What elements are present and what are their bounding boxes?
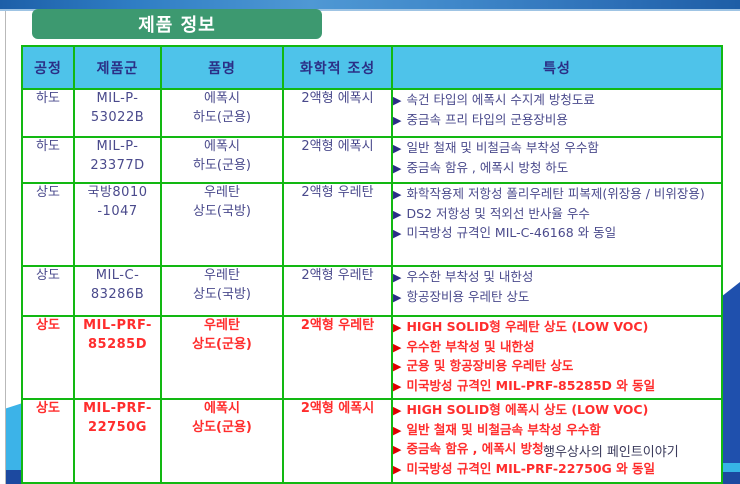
composition-value: 2액형 우레탄 xyxy=(301,185,373,200)
bullet-arrow-icon: ▶ xyxy=(393,114,401,127)
cell-features: ▶속건 타입의 에폭시 수지계 방청도료▶중금속 프리 타입의 군용장비용 xyxy=(392,89,722,137)
cell-composition: 2액형 에폭시 xyxy=(283,89,392,137)
cell-product-group: MIL-P-23377D xyxy=(74,137,161,183)
name-line1: 우레탄 xyxy=(204,318,240,333)
product-group-line1: MIL-C- xyxy=(96,268,140,283)
process-value: 상도 xyxy=(36,185,60,200)
feature-item: ▶미국방성 규격인 MIL-PRF-85285D 와 동일 xyxy=(393,376,721,396)
bullet-arrow-icon: ▶ xyxy=(393,227,401,240)
cell-process: 하도 xyxy=(22,89,74,137)
name-line2: 상도(군용) xyxy=(162,419,282,438)
feature-text: 우수한 부착성 및 내한성 xyxy=(406,339,534,354)
process-value: 상도 xyxy=(36,401,60,416)
table-header-row: 공정 제품군 품명 화학적 조성 특성 xyxy=(22,46,722,89)
bullet-arrow-icon: ▶ xyxy=(393,188,401,201)
feature-item: ▶미국방성 규격인 MIL-C-46168 와 동일 xyxy=(393,223,721,243)
page-title: 제품 정보 xyxy=(138,11,216,37)
feature-item: ▶화학작용제 저항성 폴리우레탄 피복제(위장용 / 비위장용) xyxy=(393,184,721,204)
cell-name: 우레탄상도(군용) xyxy=(161,316,283,399)
column-header-process: 공정 xyxy=(22,46,74,89)
feature-item: ▶HIGH SOLID형 우레탄 상도 (LOW VOC) xyxy=(393,317,721,337)
feature-text: 군용 및 항공장비용 우레탄 상도 xyxy=(406,358,573,373)
feature-text: HIGH SOLID형 우레탄 상도 (LOW VOC) xyxy=(406,319,648,334)
feature-text: DS2 저항성 및 적외선 반사율 우수 xyxy=(406,206,589,221)
name-line1: 에폭시 xyxy=(204,139,240,154)
cell-product-group: 국방8010-1047 xyxy=(74,183,161,266)
composition-value: 2액형 우레탄 xyxy=(301,318,374,333)
bullet-arrow-icon: ▶ xyxy=(393,380,401,393)
feature-text: 일반 철재 및 비철금속 부착성 우수함 xyxy=(406,140,598,155)
bullet-arrow-icon: ▶ xyxy=(393,360,401,373)
cell-composition: 2액형 우레탄 xyxy=(283,316,392,399)
name-line2: 상도(국방) xyxy=(162,286,282,305)
composition-value: 2액형 우레탄 xyxy=(301,268,373,283)
column-header-product-group: 제품군 xyxy=(74,46,161,89)
feature-item: ▶속건 타입의 에폭시 수지계 방청도료 xyxy=(393,90,721,110)
cell-product-group: MIL-PRF-22750G xyxy=(74,399,161,483)
top-accent-bar xyxy=(0,0,740,9)
cell-process: 상도 xyxy=(22,399,74,483)
product-group-line1: MIL-PRF- xyxy=(83,401,152,416)
table-row: 상도국방8010-1047우레탄상도(국방)2액형 우레탄▶화학작용제 저항성 … xyxy=(22,183,722,266)
bullet-arrow-icon: ▶ xyxy=(393,208,401,221)
table-row: 상도MIL-C-83286B우레탄상도(국방)2액형 우레탄▶우수한 부착성 및… xyxy=(22,266,722,316)
cell-composition: 2액형 에폭시 xyxy=(283,399,392,483)
name-line1: 우레탄 xyxy=(204,185,240,200)
bullet-arrow-icon: ▶ xyxy=(393,341,401,354)
product-info-table: 공정 제품군 품명 화학적 조성 특성 하도MIL-P-53022B에폭시하도(… xyxy=(21,45,723,484)
product-group-line1: MIL-PRF- xyxy=(83,318,152,333)
bullet-arrow-icon: ▶ xyxy=(393,142,401,155)
cell-composition: 2액형 우레탄 xyxy=(283,183,392,266)
feature-text: 중금속 프리 타입의 군용장비용 xyxy=(406,112,567,127)
composition-value: 2액형 에폭시 xyxy=(301,91,373,106)
cell-composition: 2액형 우레탄 xyxy=(283,266,392,316)
product-group-line2: 85285D xyxy=(75,336,160,355)
bullet-arrow-icon: ▶ xyxy=(393,443,401,456)
name-line2: 상도(국방) xyxy=(162,203,282,222)
name-line1: 에폭시 xyxy=(204,401,240,416)
cell-process: 상도 xyxy=(22,183,74,266)
feature-text: 중금속 함유 , 에폭시 방청 하도 xyxy=(406,160,568,175)
feature-text: 일반 철재 및 비철금속 부착성 우수함 xyxy=(406,422,600,437)
bullet-arrow-icon: ▶ xyxy=(393,404,401,417)
feature-item: ▶우수한 부착성 및 내한성 xyxy=(393,337,721,357)
cell-name: 에폭시상도(군용) xyxy=(161,399,283,483)
bullet-arrow-icon: ▶ xyxy=(393,94,401,107)
bullet-arrow-icon: ▶ xyxy=(393,162,401,175)
name-line2: 하도(군용) xyxy=(162,109,282,128)
bullet-arrow-icon: ▶ xyxy=(393,291,401,304)
cell-name: 우레탄상도(국방) xyxy=(161,183,283,266)
column-header-features: 특성 xyxy=(392,46,722,89)
bullet-arrow-icon: ▶ xyxy=(393,424,401,437)
feature-item: ▶중금속 프리 타입의 군용장비용 xyxy=(393,110,721,130)
process-value: 하도 xyxy=(36,139,60,154)
feature-text: 미국방성 규격인 MIL-C-46168 와 동일 xyxy=(406,225,616,240)
product-group-line1: 국방8010 xyxy=(87,185,147,200)
product-group-line2: 53022B xyxy=(75,109,160,128)
process-value: 상도 xyxy=(36,318,60,333)
cell-product-group: MIL-P-53022B xyxy=(74,89,161,137)
cell-name: 에폭시하도(군용) xyxy=(161,137,283,183)
process-value: 하도 xyxy=(36,91,60,106)
left-rule xyxy=(5,11,6,484)
cell-name: 우레탄상도(국방) xyxy=(161,266,283,316)
feature-text: 항공장비용 우레탄 상도 xyxy=(406,289,529,304)
cell-name: 에폭시하도(군용) xyxy=(161,89,283,137)
feature-item: ▶HIGH SOLID형 에폭시 상도 (LOW VOC) xyxy=(393,400,721,420)
product-group-line1: MIL-P- xyxy=(97,139,139,154)
product-group-line2: -1047 xyxy=(75,203,160,222)
feature-item: ▶항공장비용 우레탄 상도 xyxy=(393,287,721,307)
table-row: 상도MIL-PRF-85285D우레탄상도(군용)2액형 우레탄▶HIGH SO… xyxy=(22,316,722,399)
feature-item: ▶일반 철재 및 비철금속 부착성 우수함 xyxy=(393,138,721,158)
cell-composition: 2액형 에폭시 xyxy=(283,137,392,183)
feature-item: ▶일반 철재 및 비철금속 부착성 우수함 xyxy=(393,420,721,440)
bullet-arrow-icon: ▶ xyxy=(393,463,401,476)
cell-process: 하도 xyxy=(22,137,74,183)
bullet-arrow-icon: ▶ xyxy=(393,321,401,334)
feature-text: 미국방성 규격인 MIL-PRF-85285D 와 동일 xyxy=(406,378,655,393)
name-line1: 에폭시 xyxy=(204,91,240,106)
product-group-line2: 83286B xyxy=(75,286,160,305)
name-line1: 우레탄 xyxy=(204,268,240,283)
feature-item: ▶중금속 함유 , 에폭시 방청 하도 xyxy=(393,158,721,178)
cell-features: ▶화학작용제 저항성 폴리우레탄 피복제(위장용 / 비위장용)▶DS2 저항성… xyxy=(392,183,722,266)
slide-title-banner: 제품 정보 xyxy=(32,9,322,39)
name-line2: 상도(군용) xyxy=(162,336,282,355)
watermark-overlay: 행우상사의 페인트이야기 xyxy=(543,440,681,462)
feature-text: 속건 타입의 에폭시 수지계 방청도료 xyxy=(406,92,594,107)
cell-features: ▶일반 철재 및 비철금속 부착성 우수함▶중금속 함유 , 에폭시 방청 하도 xyxy=(392,137,722,183)
product-group-line1: MIL-P- xyxy=(97,91,139,106)
slide-canvas: 제품 정보 공정 제품군 품명 화학적 조성 특성 하도MIL-P-53022B… xyxy=(0,0,740,484)
cell-product-group: MIL-PRF-85285D xyxy=(74,316,161,399)
feature-item: ▶군용 및 항공장비용 우레탄 상도 xyxy=(393,356,721,376)
cell-product-group: MIL-C-83286B xyxy=(74,266,161,316)
feature-item: ▶우수한 부착성 및 내한성 xyxy=(393,267,721,287)
feature-text: 우수한 부착성 및 내한성 xyxy=(406,269,533,284)
product-group-line2: 22750G xyxy=(75,419,160,438)
bullet-arrow-icon: ▶ xyxy=(393,271,401,284)
cell-features: ▶우수한 부착성 및 내한성▶항공장비용 우레탄 상도 xyxy=(392,266,722,316)
cell-features: ▶HIGH SOLID형 우레탄 상도 (LOW VOC)▶우수한 부착성 및 … xyxy=(392,316,722,399)
feature-text: HIGH SOLID형 에폭시 상도 (LOW VOC) xyxy=(406,402,648,417)
feature-text: 화학작용제 저항성 폴리우레탄 피복제(위장용 / 비위장용) xyxy=(406,186,704,201)
composition-value: 2액형 에폭시 xyxy=(301,139,373,154)
process-value: 상도 xyxy=(36,268,60,283)
cell-process: 상도 xyxy=(22,316,74,399)
feature-item: ▶미국방성 규격인 MIL-PRF-22750G 와 동일 xyxy=(393,459,721,479)
table-body: 하도MIL-P-53022B에폭시하도(군용)2액형 에폭시▶속건 타입의 에폭… xyxy=(22,89,722,483)
name-line2: 하도(군용) xyxy=(162,157,282,176)
feature-text: 미국방성 규격인 MIL-PRF-22750G 와 동일 xyxy=(406,461,655,476)
table-row: 하도MIL-P-23377D에폭시하도(군용)2액형 에폭시▶일반 철재 및 비… xyxy=(22,137,722,183)
column-header-name: 품명 xyxy=(161,46,283,89)
product-group-line2: 23377D xyxy=(75,157,160,176)
column-header-composition: 화학적 조성 xyxy=(283,46,392,89)
feature-item: ▶DS2 저항성 및 적외선 반사율 우수 xyxy=(393,204,721,224)
cell-process: 상도 xyxy=(22,266,74,316)
composition-value: 2액형 에폭시 xyxy=(301,401,374,416)
table-row: 하도MIL-P-53022B에폭시하도(군용)2액형 에폭시▶속건 타입의 에폭… xyxy=(22,89,722,137)
